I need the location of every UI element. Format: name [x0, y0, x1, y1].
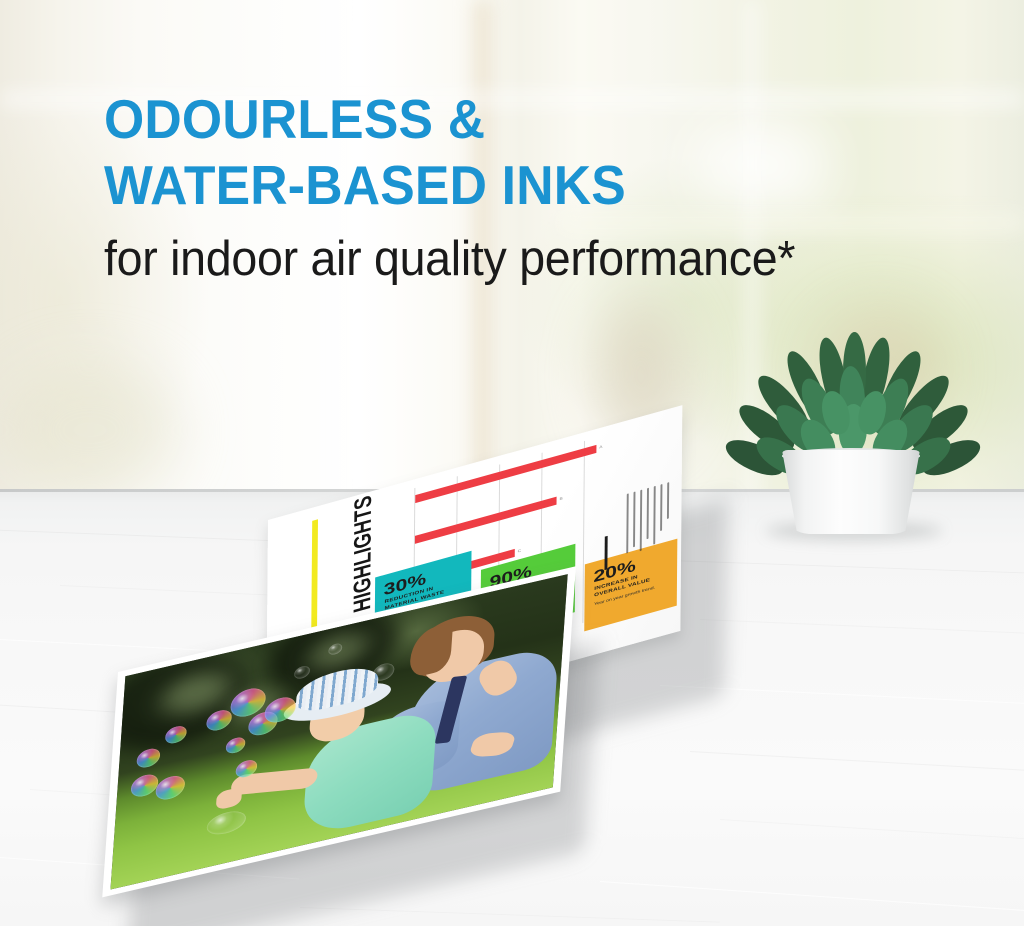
promo-banner: ODOURLESS & WATER-BASED INKS for indoor …: [0, 0, 1024, 926]
body-text-line: [633, 491, 635, 547]
body-text-line: [667, 482, 669, 519]
plant-pot: [782, 450, 920, 534]
chart-tick-label: B: [559, 496, 562, 501]
body-text-line: [647, 488, 649, 540]
potted-succulent: [760, 330, 950, 530]
chart-bar: [415, 497, 557, 544]
headline-block: ODOURLESS & WATER-BASED INKS for indoor …: [104, 86, 964, 288]
chart-tick-label: C: [518, 549, 522, 554]
body-text-line: [660, 484, 662, 531]
chart-tick-label: A: [599, 445, 602, 450]
headline-line-2: WATER-BASED INKS: [104, 152, 912, 218]
body-text-line: [653, 486, 655, 545]
body-divider: [604, 536, 607, 570]
stat-card: 20% INCREASE IN OVERALL VALUE Year on ye…: [584, 539, 677, 632]
body-text-line: [626, 493, 628, 553]
body-text-line: [640, 490, 642, 552]
headline-subtitle: for indoor air quality performance*: [104, 230, 921, 288]
background-blur-shape: [0, 360, 180, 500]
headline-line-1: ODOURLESS &: [104, 86, 912, 152]
